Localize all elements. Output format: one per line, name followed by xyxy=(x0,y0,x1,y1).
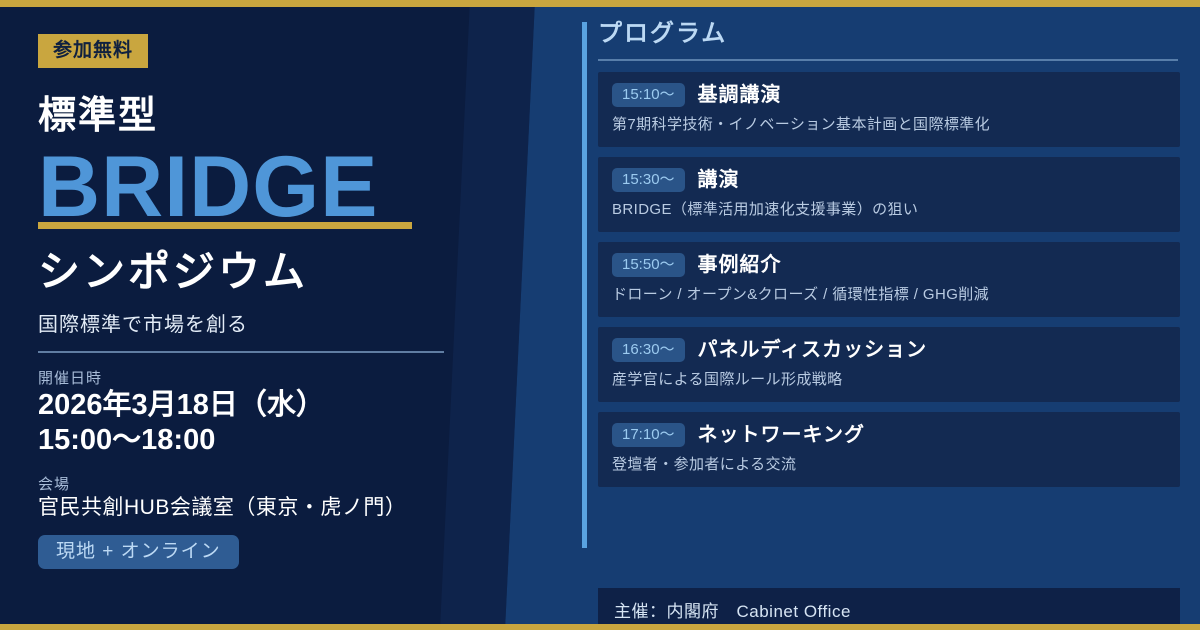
program-item: 15:50〜 事例紹介 ドローン / オープン&クローズ / 循環性指標 / G… xyxy=(598,242,1180,317)
hero-section: 参加無料 標準型 BRIDGE シンポジウム 国際標準で市場を創る 開催日時 2… xyxy=(38,34,508,569)
program-item-time: 15:30〜 xyxy=(612,168,685,192)
date-label: 開催日時 xyxy=(38,367,508,388)
program-item-description: 産学官による国際ルール形成戦略 xyxy=(612,371,1166,389)
program-heading: プログラム xyxy=(598,22,1180,46)
brand-title-wrapper: BRIDGE xyxy=(38,144,508,236)
program-accent-line xyxy=(582,22,587,548)
time-value: 15:00〜18:00 xyxy=(38,423,508,458)
program-item-description: BRIDGE（標準活用加速化支援事業）の狙い xyxy=(612,201,1166,219)
program-item-title: 事例紹介 xyxy=(698,255,782,275)
program-item-title: パネルディスカッション xyxy=(698,340,928,360)
program-item-head: 15:30〜 講演 xyxy=(612,168,1166,192)
program-list: 15:10〜 基調講演 第7期科学技術・イノベーション基本計画と国際標準化 15… xyxy=(598,72,1180,487)
free-admission-badge: 参加無料 xyxy=(38,34,148,68)
brand-underline xyxy=(38,222,412,229)
poster-canvas: 参加無料 標準型 BRIDGE シンポジウム 国際標準で市場を創る 開催日時 2… xyxy=(0,0,1200,630)
program-item-time: 15:10〜 xyxy=(612,83,685,107)
program-item-time: 17:10〜 xyxy=(612,423,685,447)
program-inner: プログラム 15:10〜 基調講演 第7期科学技術・イノベーション基本計画と国際… xyxy=(598,22,1180,497)
program-item-head: 17:10〜 ネットワーキング xyxy=(612,423,1166,447)
event-tagline: 国際標準で市場を創る xyxy=(38,308,508,337)
brand-title: BRIDGE xyxy=(38,144,508,230)
program-item-title: ネットワーキング xyxy=(698,425,865,445)
program-item-description: 第7期科学技術・イノベーション基本計画と国際標準化 xyxy=(612,116,1166,134)
symposium-title: シンポジウム xyxy=(38,248,508,296)
bottom-gold-bar xyxy=(0,624,1200,630)
program-item-description: 登壇者・参加者による交流 xyxy=(612,456,1166,474)
event-kicker: 標準型 xyxy=(38,96,508,138)
top-gold-bar xyxy=(0,0,1200,7)
date-value: 2026年3月18日（水） xyxy=(38,388,508,423)
venue-label: 会場 xyxy=(38,473,508,494)
program-item-time: 15:50〜 xyxy=(612,253,685,277)
program-heading-rule xyxy=(598,59,1178,61)
program-item-head: 15:10〜 基調講演 xyxy=(612,83,1166,107)
program-item: 17:10〜 ネットワーキング 登壇者・参加者による交流 xyxy=(598,412,1180,487)
program-item-head: 16:30〜 パネルディスカッション xyxy=(612,338,1166,362)
venue-value: 官民共創HUB会議室（東京・虎ノ門） xyxy=(38,494,508,521)
program-item-title: 講演 xyxy=(698,170,740,190)
program-item: 15:30〜 講演 BRIDGE（標準活用加速化支援事業）の狙い xyxy=(598,157,1180,232)
program-section: プログラム 15:10〜 基調講演 第7期科学技術・イノベーション基本計画と国際… xyxy=(582,22,1182,608)
organizer-line: 主催：内閣府 Cabinet Office xyxy=(614,601,1164,623)
program-item-head: 15:50〜 事例紹介 xyxy=(612,253,1166,277)
program-item-time: 16:30〜 xyxy=(612,338,685,362)
program-item-title: 基調講演 xyxy=(698,85,782,105)
attendance-mode-badge: 現地 + オンライン xyxy=(38,535,239,569)
program-item: 16:30〜 パネルディスカッション 産学官による国際ルール形成戦略 xyxy=(598,327,1180,402)
program-item: 15:10〜 基調講演 第7期科学技術・イノベーション基本計画と国際標準化 xyxy=(598,72,1180,147)
hero-divider xyxy=(38,351,444,353)
program-item-description: ドローン / オープン&クローズ / 循環性指標 / GHG削減 xyxy=(612,286,1166,304)
